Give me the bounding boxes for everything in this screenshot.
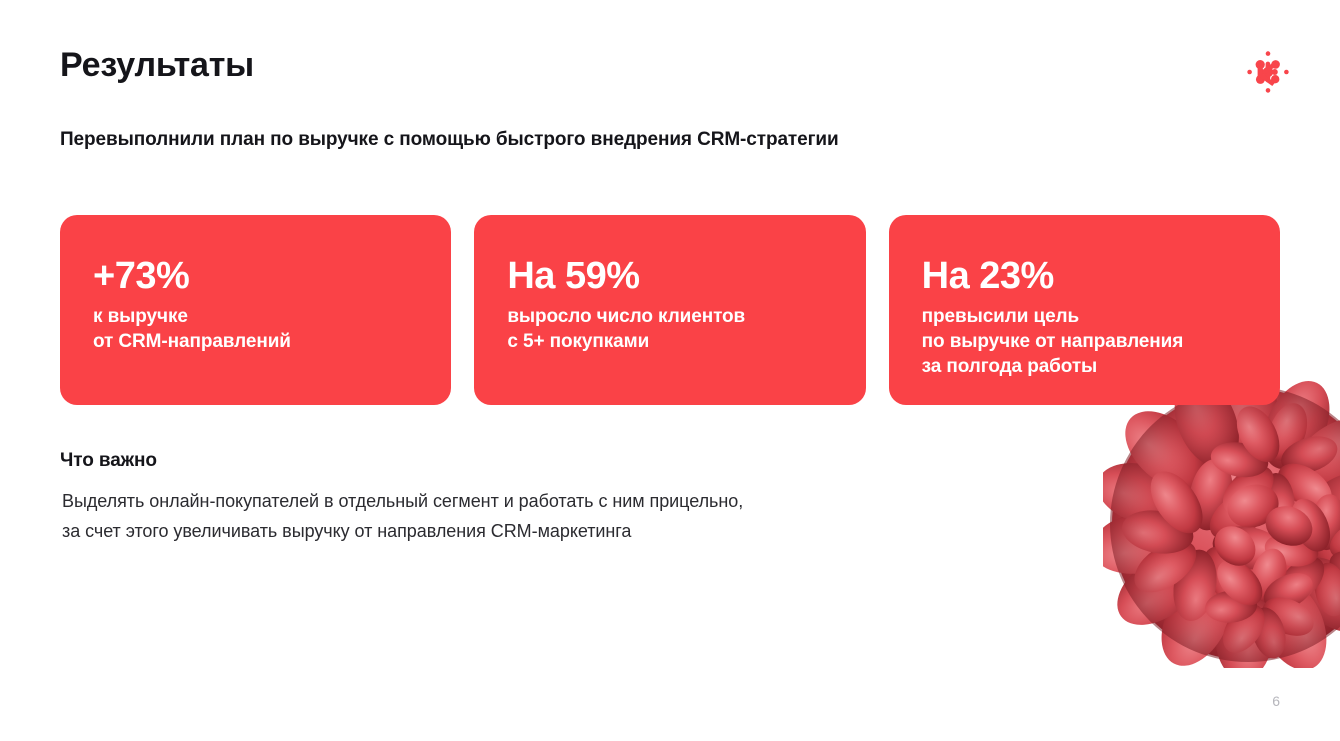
metric-description-line: выросло число клиентов (507, 306, 745, 327)
metric-value: На 23% (922, 257, 1248, 295)
page-title: Результаты (60, 46, 254, 85)
note-body-line: за счет этого увеличивать выручку от нап… (62, 516, 743, 546)
metric-description-line: за полгода работы (922, 356, 1098, 377)
metric-description-line: от CRM-направлений (93, 331, 291, 352)
metric-description-line: к выручке (93, 306, 188, 327)
metric-card-clients[interactable]: На 59% выросло число клиентов с 5+ покуп… (474, 215, 865, 405)
metric-value: +73% (93, 257, 419, 295)
metric-value: На 59% (507, 257, 833, 295)
metric-cards-row: +73% к выручке от CRM-направлений На 59%… (60, 215, 1280, 405)
metric-description: выросло число клиентов с 5+ покупками (507, 304, 833, 354)
sphere-decoration (1103, 378, 1340, 668)
slide-root: Результаты Перевыполнили план по выручке… (0, 0, 1340, 741)
3d-petal-sphere-icon (1103, 378, 1340, 668)
metric-description-line: по выручке от направления (922, 331, 1184, 352)
metric-description: превысили цель по выручке от направления… (922, 304, 1248, 379)
metric-description-line: с 5+ покупками (507, 331, 649, 352)
metric-card-goal[interactable]: На 23% превысили цель по выручке от напр… (889, 215, 1280, 405)
metric-description-line: превысили цель (922, 306, 1079, 327)
metric-card-revenue[interactable]: +73% к выручке от CRM-направлений (60, 215, 451, 405)
brand-logo (1244, 48, 1292, 96)
page-number: 6 (1272, 693, 1280, 709)
note-body-line: Выделять онлайн-покупателей в отдельный … (62, 486, 743, 516)
metric-description: к выручке от CRM-направлений (93, 304, 419, 354)
note-body: Выделять онлайн-покупателей в отдельный … (62, 486, 743, 546)
slide-subtitle: Перевыполнили план по выручке с помощью … (60, 128, 839, 153)
molecule-cluster-icon (1244, 48, 1292, 96)
note-heading: Что важно (60, 450, 157, 472)
